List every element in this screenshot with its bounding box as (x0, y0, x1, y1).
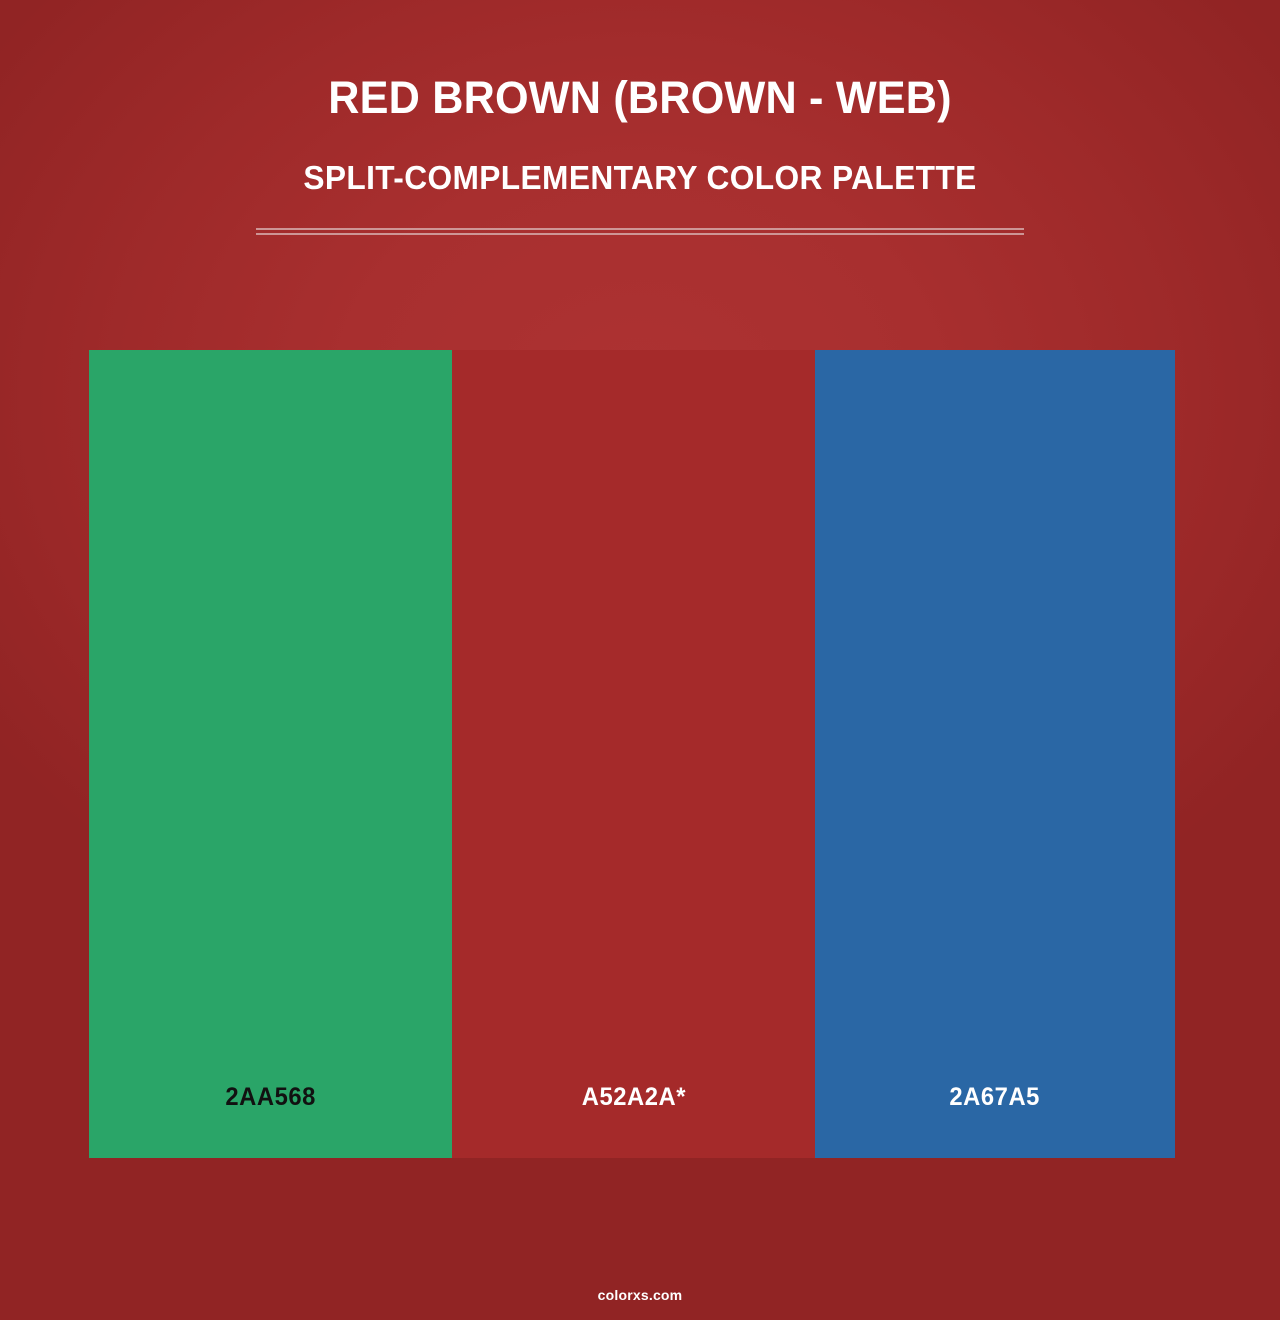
swatch-label-area-3: 2A67A5 (815, 1037, 1175, 1158)
swatch-hex-label-2: A52A2A* (581, 1083, 685, 1112)
page-title: RED BROWN (BROWN - WEB) (26, 74, 1255, 121)
swatch-color-block-3[interactable] (815, 350, 1175, 1037)
palette-swatch-group: 2AA568 A52A2A* 2A67A5 (89, 350, 1175, 1158)
divider-rule-bottom (256, 233, 1024, 235)
palette-swatch-1[interactable]: 2AA568 (89, 350, 452, 1158)
palette-swatch-3[interactable]: 2A67A5 (815, 350, 1175, 1158)
swatch-color-block-1[interactable] (89, 350, 452, 1037)
swatch-label-area-1: 2AA568 (89, 1037, 452, 1158)
footer-site-name: colorxs.com (0, 1287, 1280, 1303)
color-palette-page: RED BROWN (BROWN - WEB) SPLIT-COMPLEMENT… (0, 0, 1280, 1320)
swatch-hex-label-1: 2AA568 (225, 1083, 316, 1112)
palette-swatch-2[interactable]: A52A2A* (452, 350, 815, 1158)
swatch-hex-label-3: 2A67A5 (950, 1083, 1041, 1112)
swatch-color-block-2[interactable] (452, 350, 815, 1037)
swatch-label-area-2: A52A2A* (452, 1037, 815, 1158)
page-subtitle: SPLIT-COMPLEMENTARY COLOR PALETTE (26, 161, 1255, 196)
divider-rule-top (256, 228, 1024, 230)
header-divider (256, 228, 1024, 235)
